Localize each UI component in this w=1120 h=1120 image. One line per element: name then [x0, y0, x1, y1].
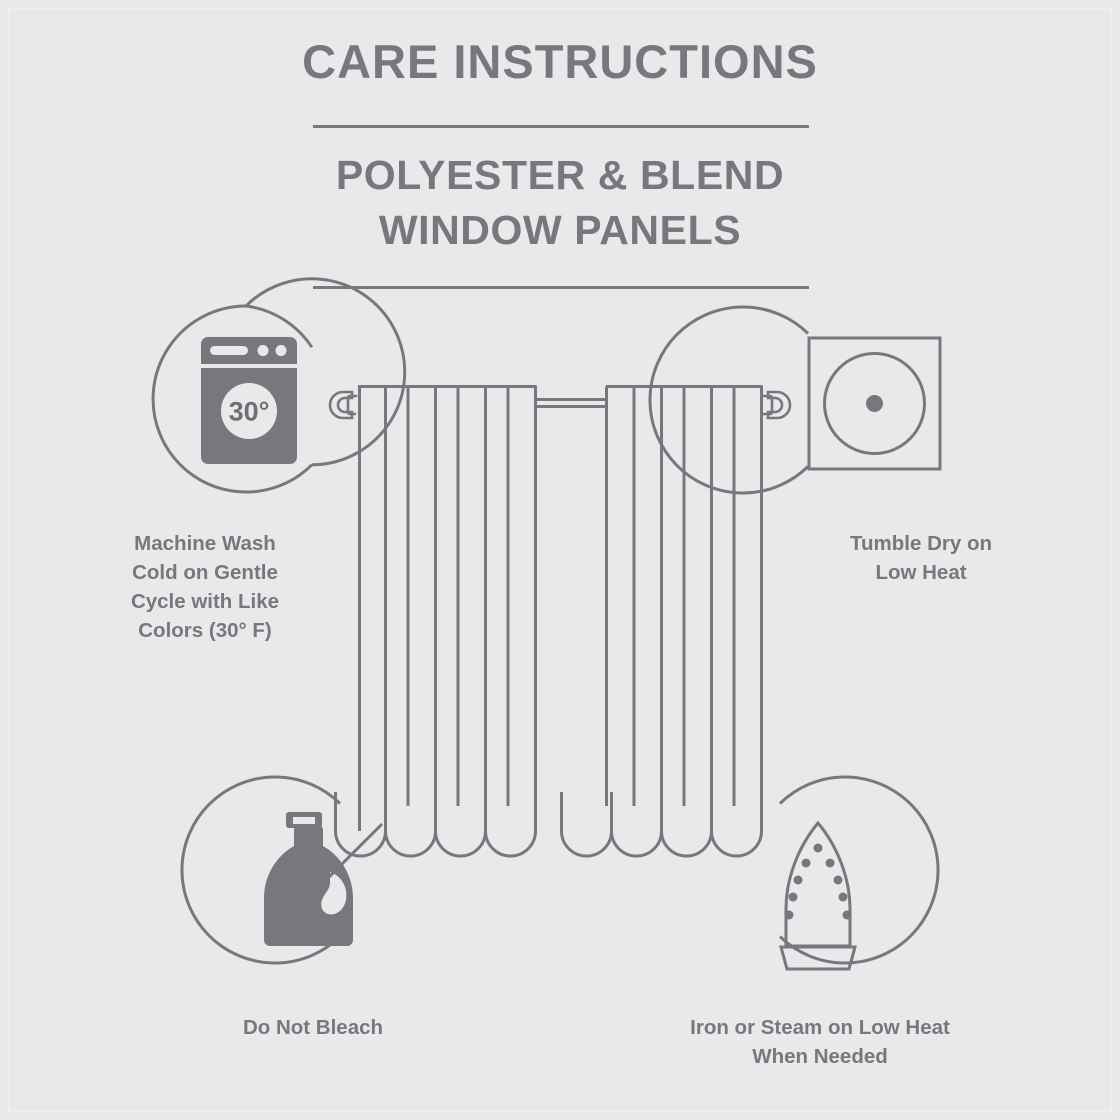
caption-line: Iron or Steam on Low Heat — [600, 1013, 1040, 1042]
caption-machine-wash: Machine Wash Cold on Gentle Cycle with L… — [74, 529, 336, 645]
iron-low-heat-icon — [781, 823, 855, 969]
curtain-rod — [536, 399, 606, 407]
curtain-panel-left — [328, 385, 536, 856]
caption-line: Cycle with Like — [74, 587, 336, 616]
care-instructions-infographic: CARE INSTRUCTIONS POLYESTER & BLEND WIND… — [0, 0, 1120, 1120]
caption-line: Machine Wash — [74, 529, 336, 558]
caption-line: Cold on Gentle — [74, 558, 336, 587]
caption-do-not-bleach: Do Not Bleach — [185, 1013, 441, 1042]
wash-temperature-label: 30° — [229, 397, 270, 427]
caption-line: When Needed — [600, 1042, 1040, 1071]
curtain-finial-right — [760, 392, 790, 418]
caption-line: Tumble Dry on — [790, 529, 1052, 558]
curtain-illustration — [328, 385, 790, 856]
curtain-finial-left — [330, 392, 360, 418]
washing-machine-icon: 30° — [201, 337, 297, 464]
symbol-iron — [780, 777, 938, 969]
tumble-dry-low-icon — [809, 338, 940, 469]
caption-tumble-dry: Tumble Dry on Low Heat — [790, 529, 1052, 587]
curtain-panel-right — [562, 385, 763, 856]
caption-line: Low Heat — [790, 558, 1052, 587]
caption-line: Do Not Bleach — [185, 1013, 441, 1042]
caption-iron: Iron or Steam on Low Heat When Needed — [600, 1013, 1040, 1071]
caption-line: Colors (30° F) — [74, 616, 336, 645]
